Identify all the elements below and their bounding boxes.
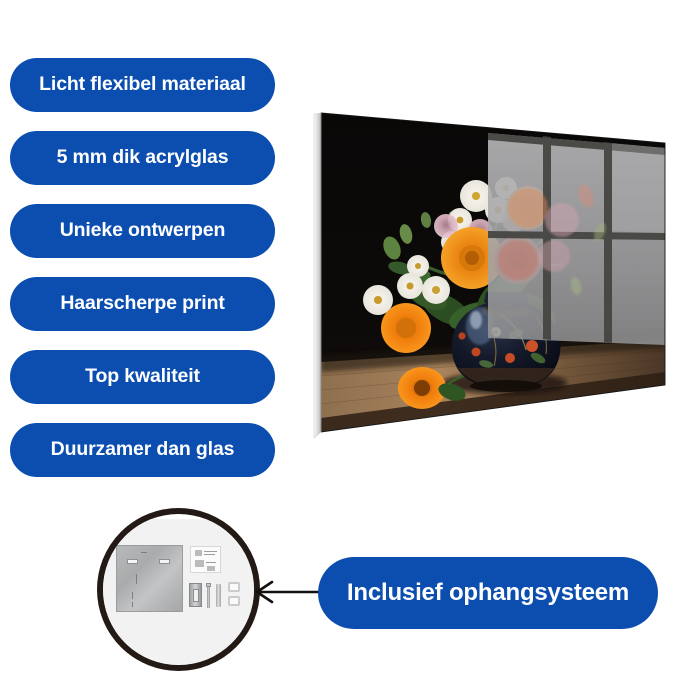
- feature-badge-label: Licht flexibel materiaal: [39, 75, 246, 95]
- wall-plug-icon: [216, 584, 221, 607]
- feature-badge-label: 5 mm dik acrylglas: [57, 148, 229, 168]
- instruction-card-icon: [190, 546, 221, 573]
- plate-slot-left-icon: [127, 559, 138, 564]
- adhesive-pad-icon: [228, 596, 240, 606]
- mounting-kit-photo: [102, 519, 257, 664]
- callout-badge-inclusief-ophangsysteem[interactable]: Inclusief ophangsysteem: [318, 557, 658, 629]
- window-reflection: [488, 133, 665, 345]
- mounting-kit-circle: [97, 508, 260, 671]
- feature-badge-label: Haarscherpe print: [60, 294, 224, 314]
- product-feature-graphic: Licht flexibel materiaal 5 mm dik acrylg…: [0, 0, 700, 700]
- feature-badge-label: Top kwaliteit: [85, 367, 200, 387]
- feature-badge-haarscherpe-print[interactable]: Haarscherpe print: [10, 277, 275, 331]
- plate-slot-right-icon: [159, 559, 170, 564]
- feature-badge-5-mm-dik-acrylglas[interactable]: 5 mm dik acrylglas: [10, 131, 275, 185]
- feature-badge-unieke-ontwerpen[interactable]: Unieke ontwerpen: [10, 204, 275, 258]
- screw-icon: [206, 583, 211, 608]
- feature-badge-top-kwaliteit[interactable]: Top kwaliteit: [10, 350, 275, 404]
- feature-badge-label: Duurzamer dan glas: [51, 440, 235, 460]
- callout-badge-label: Inclusief ophangsysteem: [347, 581, 629, 605]
- feature-badge-licht-flexibel-materiaal[interactable]: Licht flexibel materiaal: [10, 58, 275, 112]
- adhesive-pad-icon: [228, 582, 240, 592]
- aluminium-mounting-plate-icon: [116, 545, 183, 612]
- feature-badge-label: Unieke ontwerpen: [60, 221, 226, 241]
- acrylic-panel-svg: [300, 100, 680, 445]
- callout-arrow-icon: [248, 575, 328, 611]
- panel-left-edge: [314, 113, 321, 438]
- feature-badge-duurzamer-dan-glas[interactable]: Duurzamer dan glas: [10, 423, 275, 477]
- acrylic-panel-product-image: [300, 100, 680, 445]
- spacer-block-icon: [189, 583, 202, 607]
